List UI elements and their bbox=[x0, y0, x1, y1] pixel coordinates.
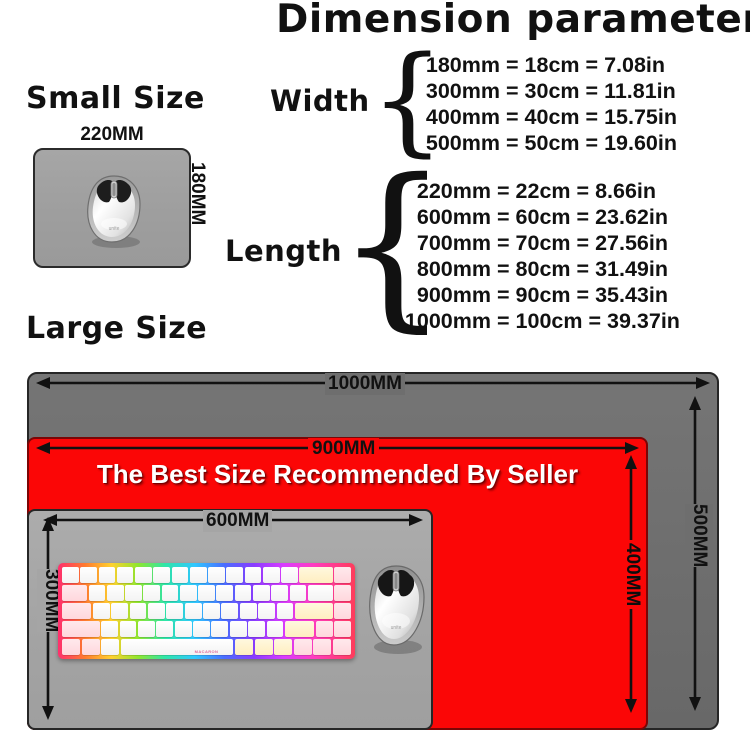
eq: = bbox=[577, 179, 590, 203]
keyboard-row bbox=[62, 567, 351, 583]
list-item: 400mm = 40cm = 15.75in bbox=[408, 104, 677, 130]
label-400mm: 400MM bbox=[621, 540, 643, 609]
width-in-3: 19.60in bbox=[604, 131, 677, 155]
length-mm-5: 1000mm bbox=[385, 308, 491, 334]
list-item: 600mm = 60cm = 23.62in bbox=[385, 204, 680, 230]
eq: = bbox=[586, 79, 599, 103]
width-label: Width bbox=[270, 84, 370, 118]
eq: = bbox=[497, 309, 510, 333]
small-size-title: Small Size bbox=[26, 82, 205, 116]
width-mm-1: 300mm bbox=[408, 78, 500, 104]
label-500mm: 500MM bbox=[685, 504, 713, 567]
dimension-parameter-infographic: Dimension parameter Width { 180mm = 18cm… bbox=[0, 0, 750, 750]
large-size-title: Large Size bbox=[26, 312, 207, 346]
mouse-icon: unite bbox=[362, 561, 434, 657]
length-value-list: 220mm = 22cm = 8.66in 600mm = 60cm = 23.… bbox=[385, 178, 680, 334]
width-mm-2: 400mm bbox=[408, 104, 500, 130]
list-item: 700mm = 70cm = 27.56in bbox=[385, 230, 680, 256]
small-mousepad: unite bbox=[33, 148, 191, 268]
length-in-4: 35.43in bbox=[595, 283, 668, 307]
eq: = bbox=[586, 53, 599, 77]
list-item: 800mm = 80cm = 31.49in bbox=[385, 256, 680, 282]
length-cm-1: 60cm bbox=[516, 205, 571, 229]
keyboard-row bbox=[62, 603, 351, 619]
label-600mm: 600MM bbox=[203, 510, 272, 532]
eq: = bbox=[506, 53, 519, 77]
keyboard-image: MACARON bbox=[58, 563, 355, 659]
length-cm-4: 90cm bbox=[516, 283, 571, 307]
eq: = bbox=[506, 79, 519, 103]
length-mm-1: 600mm bbox=[385, 204, 491, 230]
list-item: 180mm = 18cm = 7.08in bbox=[408, 52, 677, 78]
eq: = bbox=[577, 205, 590, 229]
page-title: Dimension parameter bbox=[276, 0, 748, 42]
length-cm-2: 70cm bbox=[516, 231, 571, 255]
length-in-5: 39.37in bbox=[607, 309, 680, 333]
width-cm-1: 30cm bbox=[525, 79, 580, 103]
length-in-2: 27.56in bbox=[595, 231, 668, 255]
eq: = bbox=[506, 105, 519, 129]
label-1000mm: 1000MM bbox=[325, 373, 405, 395]
length-in-1: 23.62in bbox=[595, 205, 668, 229]
list-item: 900mm = 90cm = 35.43in bbox=[385, 282, 680, 308]
eq: = bbox=[497, 283, 510, 307]
keyboard-logo: MACARON bbox=[195, 649, 219, 654]
label-900mm: 900MM bbox=[308, 438, 379, 460]
length-cm-5: 100cm bbox=[516, 309, 583, 333]
keyboard-keys: MACARON bbox=[62, 567, 351, 655]
width-mm-0: 180mm bbox=[408, 52, 500, 78]
width-cm-0: 18cm bbox=[525, 53, 580, 77]
eq: = bbox=[506, 131, 519, 155]
width-cm-2: 40cm bbox=[525, 105, 580, 129]
small-pad-width-label: 220MM bbox=[33, 124, 191, 146]
recommended-banner-text: The Best Size Recommended By Seller bbox=[31, 459, 644, 490]
eq: = bbox=[577, 257, 590, 281]
length-mm-4: 900mm bbox=[385, 282, 491, 308]
eq: = bbox=[577, 231, 590, 255]
eq: = bbox=[497, 257, 510, 281]
svg-text:unite: unite bbox=[109, 226, 120, 232]
width-in-1: 11.81in bbox=[604, 79, 676, 103]
list-item: 1000mm = 100cm = 39.37in bbox=[385, 308, 680, 334]
eq: = bbox=[497, 179, 510, 203]
width-cm-3: 50cm bbox=[525, 131, 580, 155]
svg-text:unite: unite bbox=[391, 625, 402, 631]
mouse-icon: unite bbox=[78, 172, 150, 250]
length-label: Length bbox=[225, 234, 342, 268]
length-cm-0: 22cm bbox=[516, 179, 571, 203]
length-mm-2: 700mm bbox=[385, 230, 491, 256]
length-cm-3: 80cm bbox=[516, 257, 571, 281]
eq: = bbox=[586, 131, 599, 155]
eq: = bbox=[497, 205, 510, 229]
length-mm-0: 220mm bbox=[385, 178, 491, 204]
length-mm-3: 800mm bbox=[385, 256, 491, 282]
eq: = bbox=[497, 231, 510, 255]
eq: = bbox=[577, 283, 590, 307]
width-in-0: 7.08in bbox=[604, 53, 665, 77]
list-item: 300mm = 30cm = 11.81in bbox=[408, 78, 677, 104]
eq: = bbox=[586, 105, 599, 129]
width-in-2: 15.75in bbox=[604, 105, 677, 129]
eq: = bbox=[588, 309, 601, 333]
keyboard-row bbox=[62, 585, 351, 601]
list-item: 220mm = 22cm = 8.66in bbox=[385, 178, 680, 204]
length-in-3: 31.49in bbox=[595, 257, 668, 281]
length-in-0: 8.66in bbox=[595, 179, 656, 203]
keyboard-row bbox=[62, 621, 351, 637]
